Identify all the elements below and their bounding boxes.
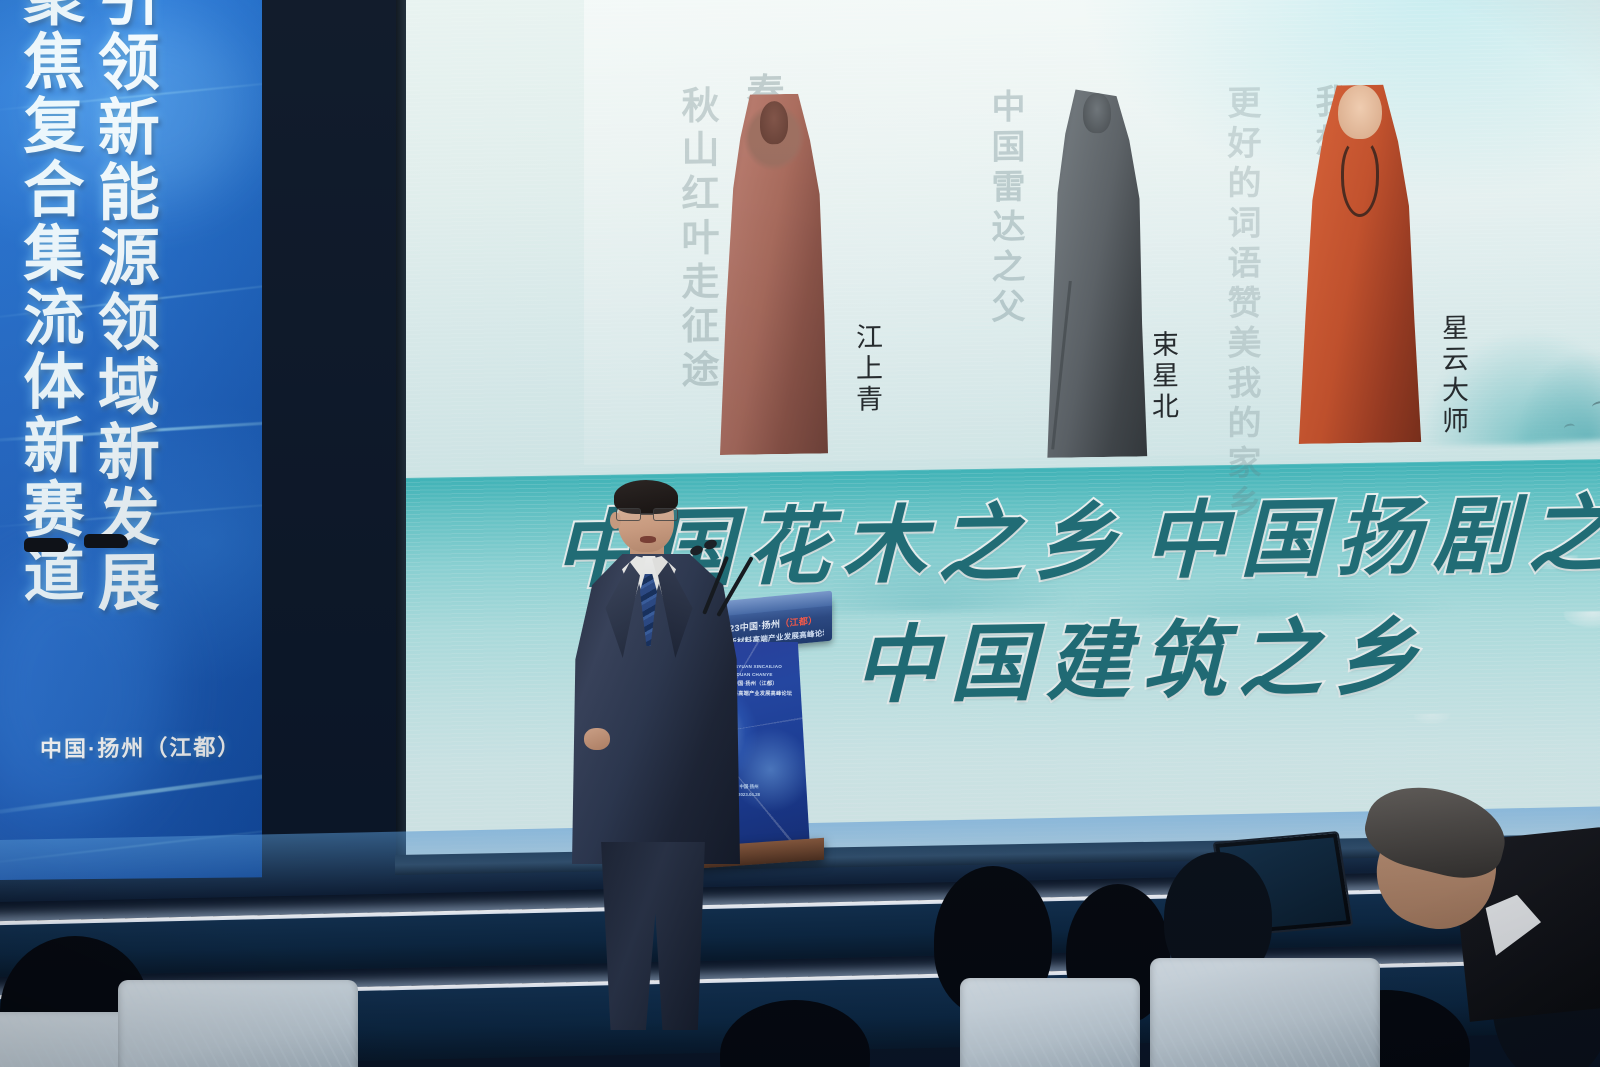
screen-headline-1: 中国扬剧之乡 [1144,465,1600,595]
screen-headline-2: 中国建筑之乡 [854,590,1430,720]
statue-head [1083,93,1111,134]
speaker-shoe-right [84,534,128,548]
portrait-statue-shu-xingbei [1032,88,1160,458]
calligraphy-watermark-2: 中国雷达之父 [980,88,1029,329]
statue-fade [1292,349,1428,444]
lens-right [653,508,678,521]
speaker-mouth [640,536,656,543]
calligraphy-watermark-4: 更好的词语赞美我的家乡 [1216,84,1265,525]
banner-headline-columns: 引领新能源领域新发展 聚焦复合集流体新赛道 [16,0,154,756]
lens-bridge [641,513,653,515]
statue-head [760,101,789,145]
audience-member-bowing [1352,790,1600,1010]
banner-subtitle: 中国·扬州（江都） [40,729,241,763]
portrait-label-0: 江上青 [848,322,887,416]
banner-headline-left: 聚焦复合集流体新赛道 [16,0,79,756]
audience-chair-cover [1150,958,1380,1067]
monk-head [1338,85,1382,139]
banner-headline-right: 引领新能源领域新发展 [89,0,153,755]
portrait-label-1: 束星北 [1144,330,1183,424]
speaker-person [566,480,746,880]
statue-fade [1032,360,1160,458]
portrait-label-2: 星云大师 [1434,313,1473,438]
audience-chair-cover [960,978,1140,1067]
portrait-statue-jiang-shangqing [714,93,834,455]
left-side-banner: 引领新能源领域新发展 聚焦复合集流体新赛道 中国·扬州（江都） [0,0,262,880]
conference-stage-photo: 引领新能源领域新发展 聚焦复合集流体新赛道 中国·扬州（江都） 秋山红叶走征途 … [0,0,1600,1067]
led-screen-bezel-left [396,0,406,870]
statue-fade [714,360,834,455]
portrait-monk-xingyun [1292,84,1428,444]
speaker-suit-jacket [572,554,740,864]
eyeglasses-icon [616,508,678,521]
speaker-shoe-left [24,538,68,552]
lens-left [616,508,641,521]
audience-chair-cover [118,980,358,1067]
speaker-hand [584,728,610,750]
podium-sign-line-1-highlight: （江都） [780,615,817,629]
